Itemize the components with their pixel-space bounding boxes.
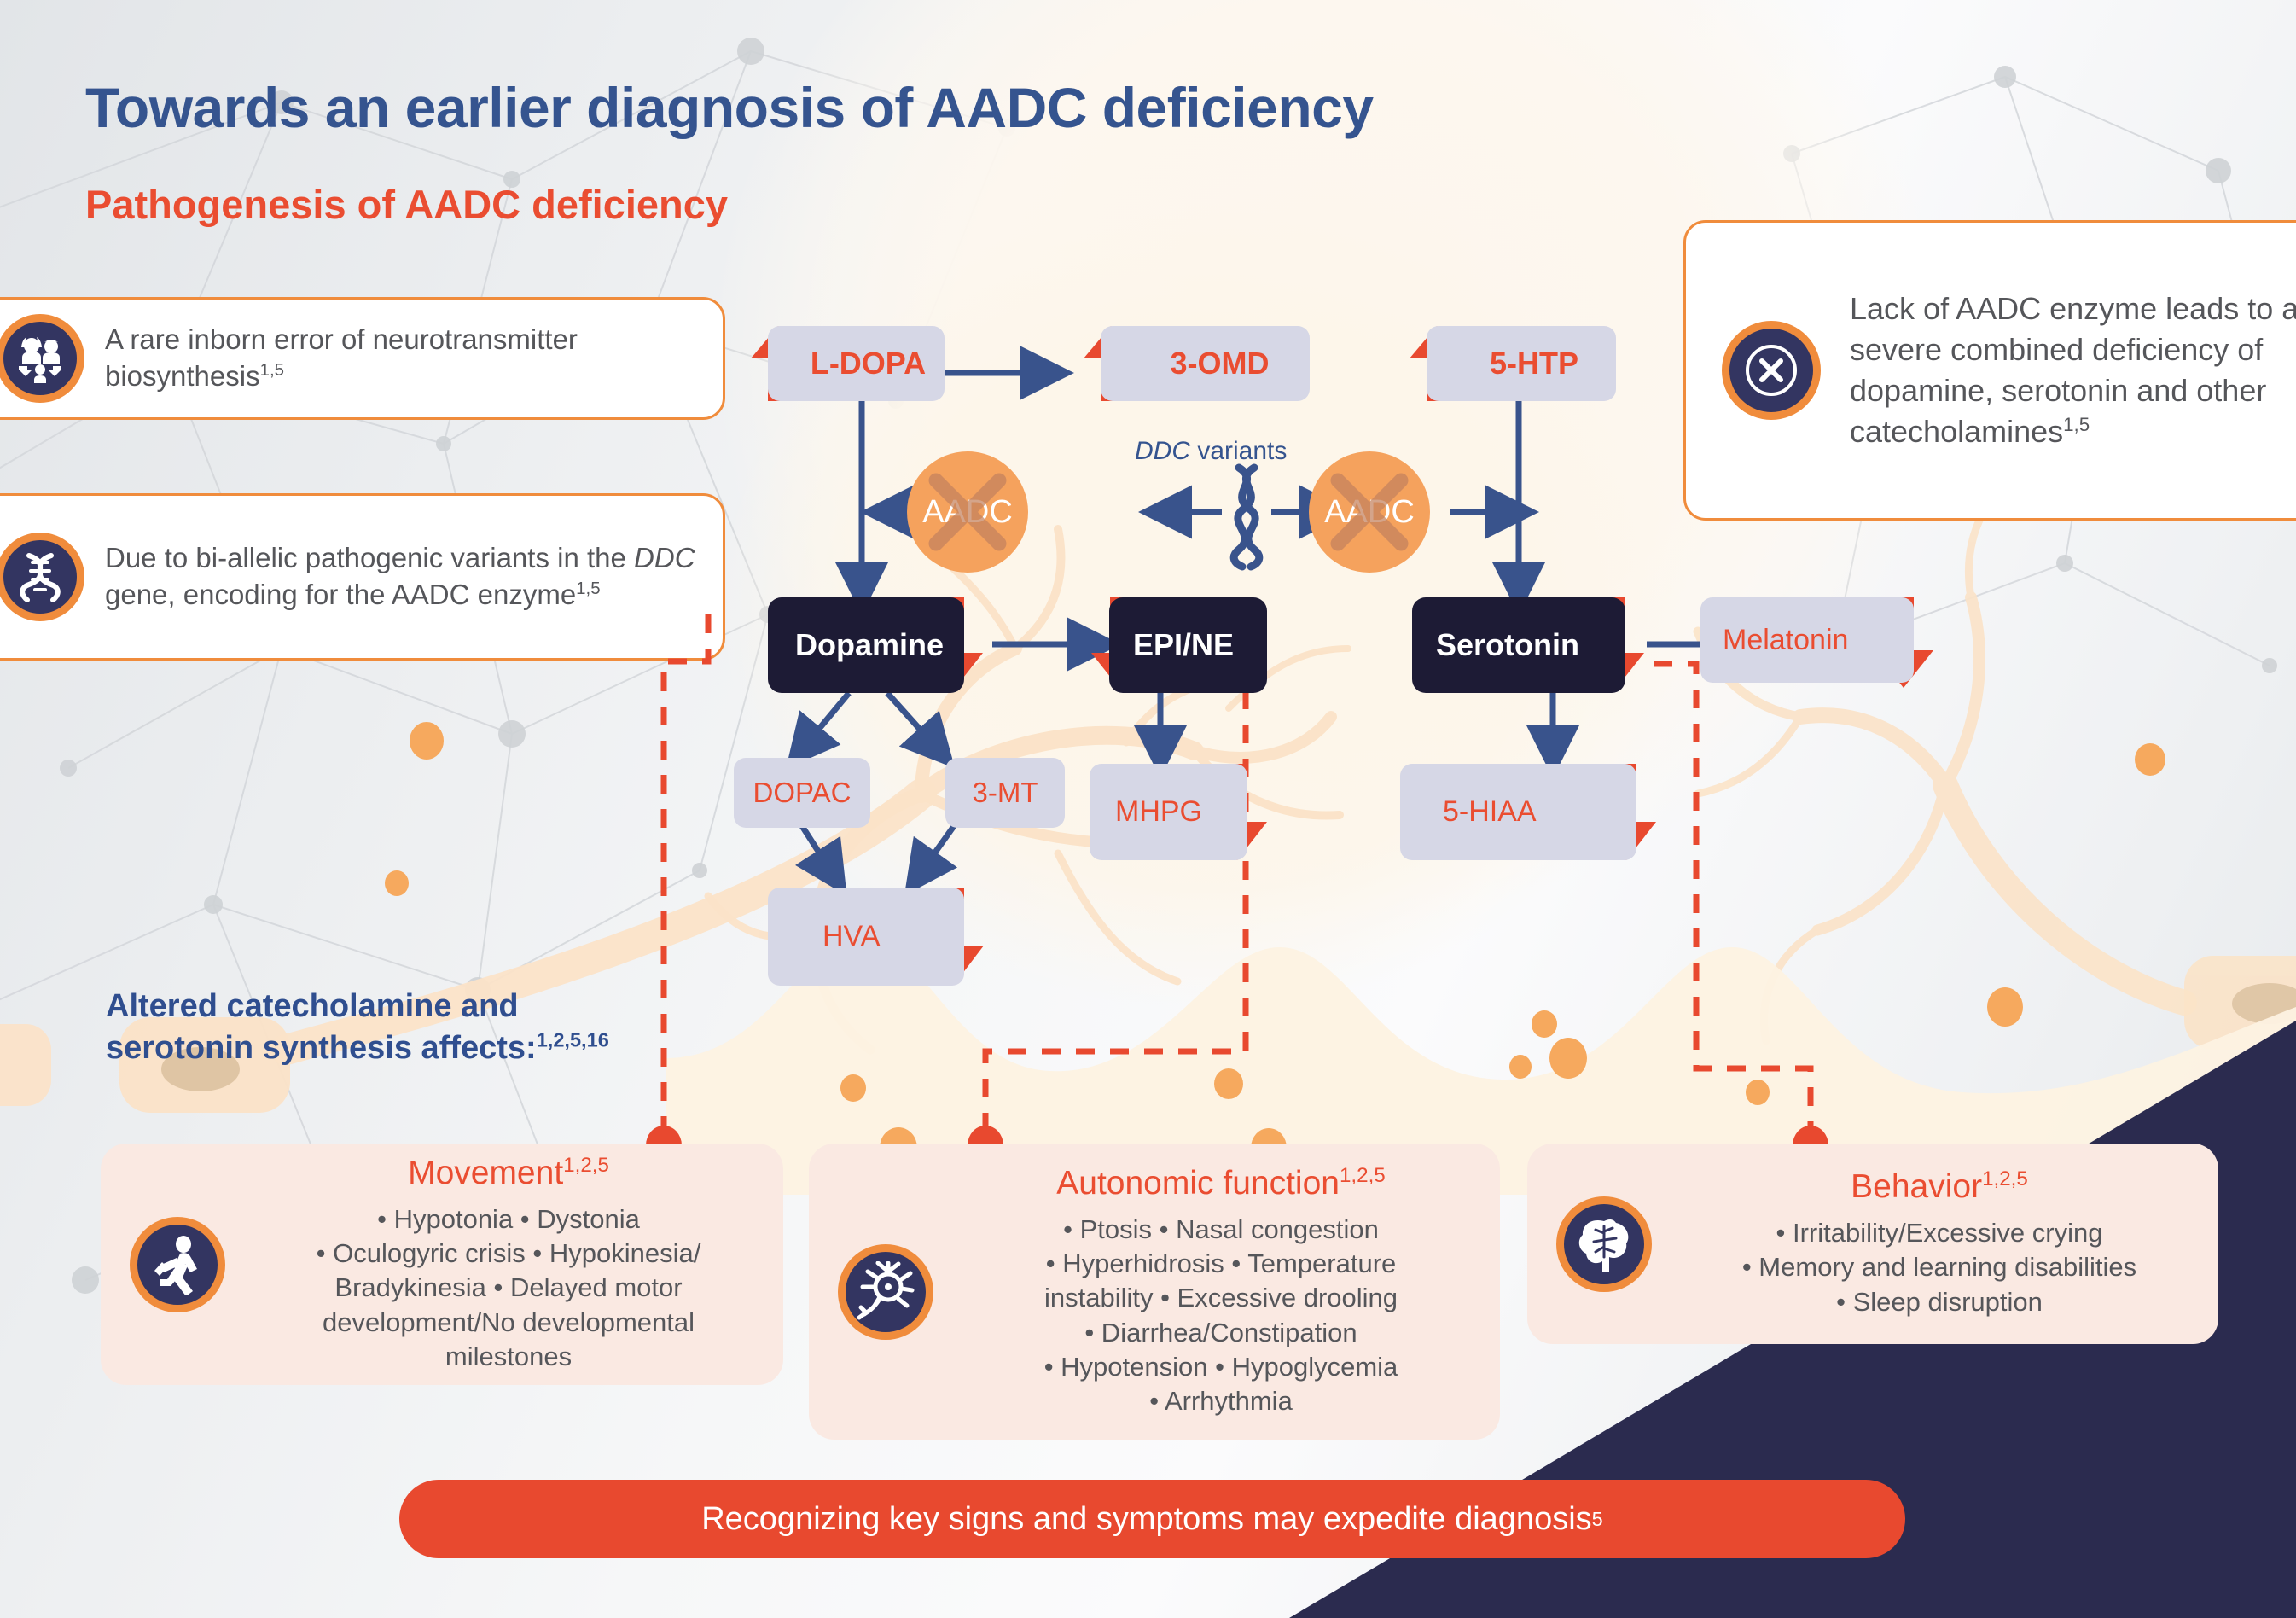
symptom-card-autonomic-body: Autonomic function1,2,5 • Ptosis • Nasal…	[942, 1165, 1500, 1419]
node-mhpg[interactable]: MHPG	[1090, 764, 1247, 860]
node-epi-ne-label: EPI/NE	[1133, 627, 1234, 663]
symptom-card-autonomic-function: Autonomic function1,2,5 • Ptosis • Nasal…	[809, 1144, 1500, 1440]
symptom-card-movement-body: Movement1,2,5 • Hypotonia • Dystonia • O…	[234, 1155, 783, 1374]
node-serotonin[interactable]: Serotonin	[1412, 597, 1625, 693]
node-3-omd-label: 3-OMD	[1171, 346, 1270, 381]
info-card-1-text: A rare inborn error of neurotransmitter …	[105, 322, 723, 395]
running-person-icon	[130, 1217, 225, 1312]
info-card-3-text: Lack of AADC enzyme leads to a severe co…	[1850, 288, 2296, 453]
node-dopamine-label: Dopamine	[795, 627, 944, 663]
info-card-rare-inborn-error: A rare inborn error of neurotransmitter …	[0, 297, 725, 420]
node-melatonin[interactable]: Melatonin	[1700, 597, 1914, 683]
cross-out-icon	[907, 451, 1028, 573]
page-title: Towards an earlier diagnosis of AADC def…	[85, 75, 1374, 140]
node-5-hiaa-label: 5-HIAA	[1443, 795, 1537, 829]
node-3-mt[interactable]: 3-MT	[945, 758, 1065, 828]
affects-heading-line1: Altered catecholamine and	[106, 988, 519, 1024]
node-3-mt-label: 3-MT	[973, 777, 1038, 809]
info-card-ddc-gene: Due to bi-allelic pathogenic variants in…	[0, 493, 725, 661]
aadc-enzyme-right: AADC	[1309, 451, 1430, 573]
symptom-card-autonomic-list: • Ptosis • Nasal congestion • Hyperhidro…	[961, 1213, 1481, 1419]
symptom-card-behavior-list: • Irritability/Excessive crying • Memory…	[1679, 1216, 2200, 1319]
symptom-card-movement-title: Movement1,2,5	[253, 1155, 764, 1192]
page-subtitle: Pathogenesis of AADC deficiency	[85, 181, 728, 228]
symptom-card-behavior: Behavior1,2,5 • Irritability/Excessive c…	[1527, 1144, 2218, 1344]
cross-out-icon-right	[1309, 451, 1430, 573]
node-dopac-label: DOPAC	[753, 777, 852, 809]
symptom-card-behavior-title: Behavior1,2,5	[1679, 1168, 2200, 1206]
node-dopamine[interactable]: Dopamine	[768, 597, 964, 693]
symptom-card-autonomic-title: Autonomic function1,2,5	[961, 1165, 1481, 1202]
info-card-lack-of-aadc: Lack of AADC enzyme leads to a severe co…	[1683, 220, 2296, 521]
node-5-hiaa[interactable]: 5-HIAA	[1400, 764, 1636, 860]
node-l-dopa[interactable]: L-DOPA	[768, 326, 945, 401]
node-l-dopa-label: L-DOPA	[811, 346, 926, 381]
node-3-omd[interactable]: 3-OMD	[1101, 326, 1310, 401]
bottom-banner: Recognizing key signs and symptoms may e…	[399, 1480, 1905, 1558]
symptom-card-movement: Movement1,2,5 • Hypotonia • Dystonia • O…	[101, 1144, 783, 1385]
brain-icon	[1556, 1196, 1652, 1292]
node-5-htp-label: 5-HTP	[1490, 346, 1578, 381]
infographic-canvas: Towards an earlier diagnosis of AADC def…	[0, 0, 2296, 1618]
symptom-card-movement-list: • Hypotonia • Dystonia • Oculogyric cris…	[253, 1202, 764, 1374]
bottom-banner-text: Recognizing key signs and symptoms may e…	[701, 1501, 1591, 1538]
symptom-card-behavior-body: Behavior1,2,5 • Irritability/Excessive c…	[1660, 1168, 2218, 1319]
neuron-cell-icon	[838, 1244, 933, 1340]
info-card-2-text: Due to bi-allelic pathogenic variants in…	[105, 540, 723, 614]
node-epi-ne[interactable]: EPI/NE	[1109, 597, 1267, 693]
x-circle-icon	[1722, 321, 1821, 420]
node-hva-label: HVA	[822, 920, 880, 953]
node-serotonin-label: Serotonin	[1436, 627, 1579, 663]
node-hva[interactable]: HVA	[768, 888, 964, 986]
aadc-enzyme-left: AADC	[907, 451, 1028, 573]
node-5-htp[interactable]: 5-HTP	[1427, 326, 1616, 401]
dna-helix-icon	[0, 533, 84, 621]
node-dopac[interactable]: DOPAC	[734, 758, 870, 828]
node-melatonin-label: Melatonin	[1723, 624, 1848, 657]
ddc-variants-label: DDC variants	[1135, 437, 1287, 466]
node-mhpg-label: MHPG	[1115, 795, 1202, 829]
affects-heading-line2: serotonin synthesis affects:	[106, 1030, 537, 1066]
affects-heading: Altered catecholamine and serotonin synt…	[106, 986, 609, 1070]
family-people-icon	[0, 314, 84, 403]
